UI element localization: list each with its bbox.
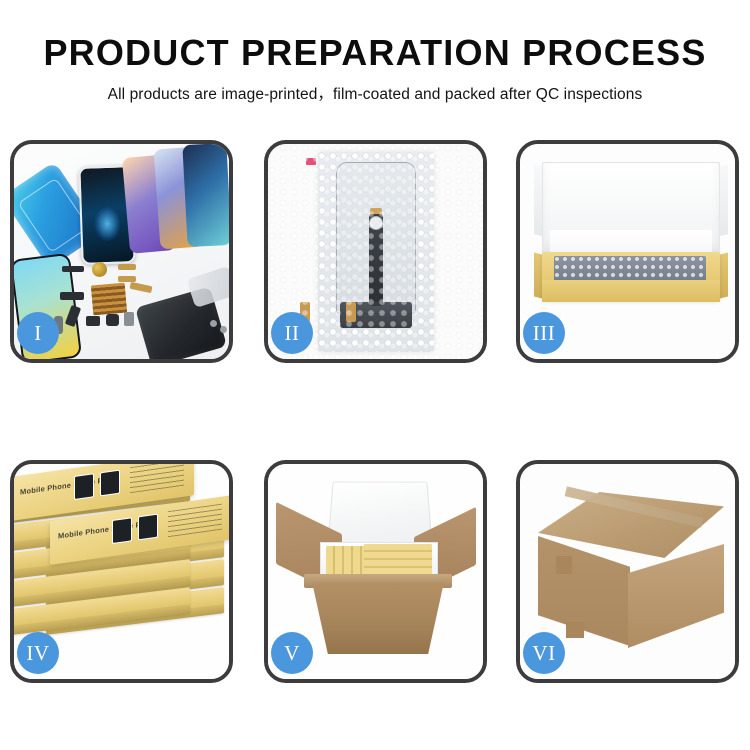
header: PRODUCT PREPARATION PROCESS All products… — [0, 34, 750, 104]
step-badge-5: V — [271, 632, 313, 674]
process-step-3: III — [516, 140, 739, 363]
page-subtitle: All products are image-printed，film-coat… — [0, 82, 750, 104]
spare-part-icon — [62, 266, 84, 272]
box-spec-lines — [168, 504, 222, 538]
gold-tray-front-icon — [542, 280, 720, 302]
flex-cable-icon — [118, 276, 136, 282]
carton-tab-icon — [556, 556, 572, 574]
box-spec-lines — [130, 464, 184, 493]
speaker-coil-icon — [92, 262, 107, 277]
product-preparation-infographic: PRODUCT PREPARATION PROCESS All products… — [0, 0, 750, 750]
flex-cable-icon — [118, 264, 136, 270]
box-art-screen-icon — [138, 514, 158, 541]
phone-display-blue-icon — [182, 144, 229, 247]
spare-part-icon — [60, 292, 84, 300]
box-art-screen-icon — [112, 517, 132, 544]
carton-body-icon — [312, 582, 444, 654]
chip-grid-icon — [91, 283, 127, 316]
process-step-1: I — [10, 140, 233, 363]
process-step-2: II — [264, 140, 487, 363]
screw-icon — [210, 320, 217, 327]
spare-part-icon — [124, 312, 134, 326]
process-steps-grid: I II — [10, 140, 742, 680]
process-step-6: VI — [516, 460, 739, 683]
carton-tab-icon — [566, 622, 584, 638]
step-badge-2: II — [271, 312, 313, 354]
page-title: PRODUCT PREPARATION PROCESS — [0, 34, 750, 72]
screw-icon — [220, 326, 227, 333]
step-badge-1: I — [17, 312, 59, 354]
repair-tool-icon — [186, 266, 229, 308]
step-badge-6: VI — [523, 632, 565, 674]
process-step-4: Mobile Phone Spare Parts Mobile Phone Sp… — [10, 460, 233, 683]
step-badge-4: IV — [17, 632, 59, 674]
carton-left-face-icon — [538, 536, 630, 646]
carton-right-face-icon — [628, 544, 724, 648]
process-step-5: V — [264, 460, 487, 683]
camera-module-icon — [106, 314, 119, 326]
spare-part-icon — [86, 316, 100, 326]
step-badge-3: III — [523, 312, 565, 354]
box-art-screen-icon — [74, 473, 94, 500]
box-art-screen-icon — [100, 470, 120, 497]
flex-cable-icon — [130, 282, 153, 293]
